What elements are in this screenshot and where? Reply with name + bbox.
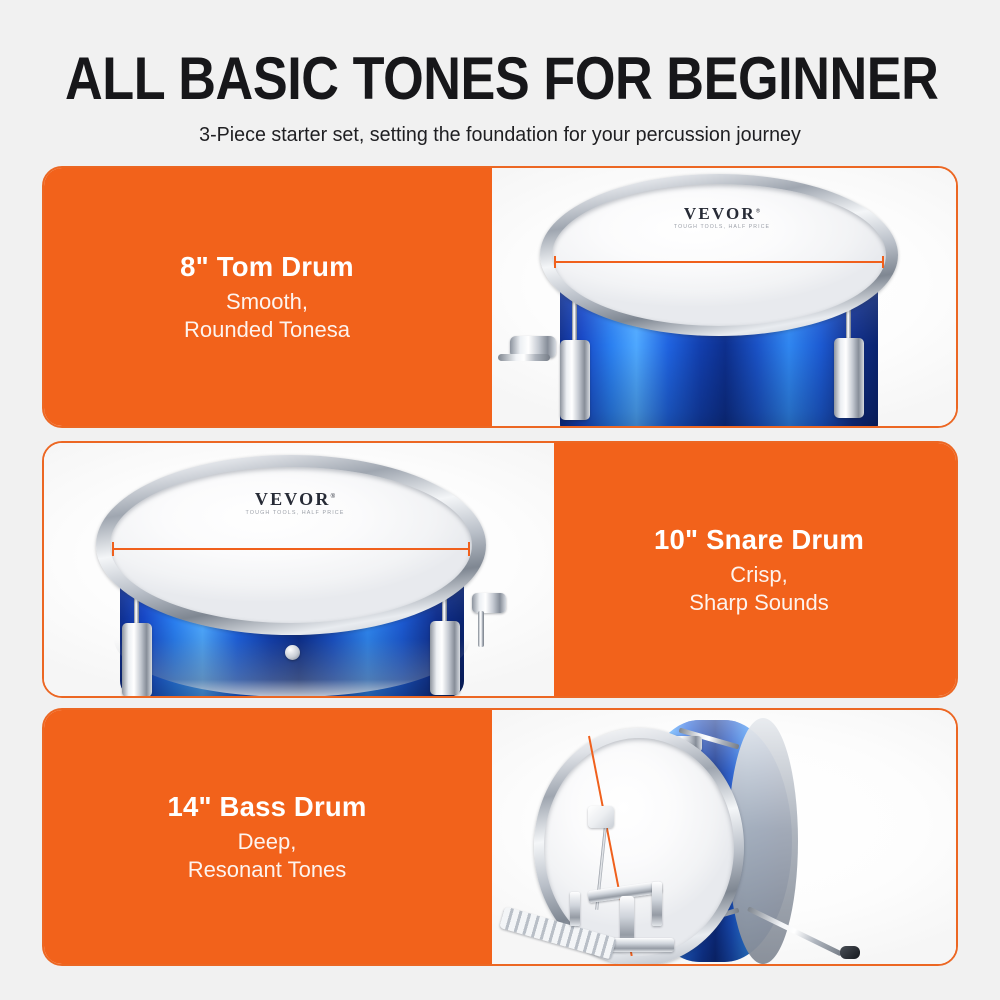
caption-tom: 8" Tom Drum Smooth, Rounded Tonesa bbox=[42, 250, 492, 344]
caption-sub-line1-bass: Deep, bbox=[60, 828, 474, 856]
tom-lug-left bbox=[560, 340, 590, 420]
snare-strainer bbox=[472, 593, 506, 613]
bass-beater-head bbox=[588, 806, 614, 828]
caption-snare: 10" Snare Drum Crisp, Sharp Sounds bbox=[554, 523, 958, 617]
snare-lug-right bbox=[430, 621, 460, 695]
caption-bass: 14" Bass Drum Deep, Resonant Tones bbox=[42, 790, 492, 884]
feature-panel-snare: VEVOR® TOUGH TOOLS, HALF PRICE 10" Snare… bbox=[42, 441, 958, 698]
caption-title-tom: 8" Tom Drum bbox=[60, 250, 474, 284]
caption-block-bass: 14" Bass Drum Deep, Resonant Tones bbox=[42, 710, 492, 964]
snare-diameter-measure-line bbox=[112, 548, 470, 550]
caption-sub-line1-tom: Smooth, bbox=[60, 288, 474, 316]
photo-block-bass bbox=[492, 710, 958, 964]
infographic-page: ALL BASIC TONES FOR BEGINNER 3-Piece sta… bbox=[0, 0, 1000, 1000]
caption-block-tom: 8" Tom Drum Smooth, Rounded Tonesa bbox=[42, 168, 492, 426]
page-title: ALL BASIC TONES FOR BEGINNER bbox=[65, 48, 935, 110]
bass-pedal-post-right bbox=[652, 882, 662, 926]
snare-lug-left bbox=[122, 623, 152, 696]
page-subtitle: 3-Piece starter set, setting the foundat… bbox=[20, 122, 980, 148]
tom-hoop-inner-shadow bbox=[552, 184, 886, 326]
caption-title-snare: 10" Snare Drum bbox=[572, 523, 946, 557]
snare-hoop-inner-shadow bbox=[110, 467, 472, 623]
snare-drum-photo: VEVOR® TOUGH TOOLS, HALF PRICE bbox=[42, 443, 554, 696]
tom-drum-photo: VEVOR® TOUGH TOOLS, HALF PRICE bbox=[492, 168, 958, 426]
caption-sub-line2-snare: Sharp Sounds bbox=[572, 589, 946, 617]
bass-pedal-post-left bbox=[570, 892, 580, 926]
feature-panel-bass: 14" Bass Drum Deep, Resonant Tones bbox=[42, 708, 958, 966]
caption-sub-line2-bass: Resonant Tones bbox=[60, 856, 474, 884]
caption-sub-line1-snare: Crisp, bbox=[572, 561, 946, 589]
caption-title-bass: 14" Bass Drum bbox=[60, 790, 474, 824]
tom-lug-right bbox=[834, 338, 864, 418]
snare-strainer-arm bbox=[478, 611, 484, 647]
bass-spur-foot bbox=[840, 946, 860, 959]
tom-diameter-measure-line bbox=[554, 261, 884, 263]
tom-mount-wingnut bbox=[498, 354, 550, 361]
photo-block-tom: VEVOR® TOUGH TOOLS, HALF PRICE bbox=[492, 168, 958, 426]
feature-panel-tom: 8" Tom Drum Smooth, Rounded Tonesa bbox=[42, 166, 958, 428]
caption-sub-line2-tom: Rounded Tonesa bbox=[60, 316, 474, 344]
bass-drum-photo bbox=[492, 710, 958, 964]
photo-block-snare: VEVOR® TOUGH TOOLS, HALF PRICE bbox=[42, 443, 554, 696]
caption-block-snare: 10" Snare Drum Crisp, Sharp Sounds bbox=[554, 443, 958, 696]
snare-air-vent bbox=[285, 645, 300, 660]
